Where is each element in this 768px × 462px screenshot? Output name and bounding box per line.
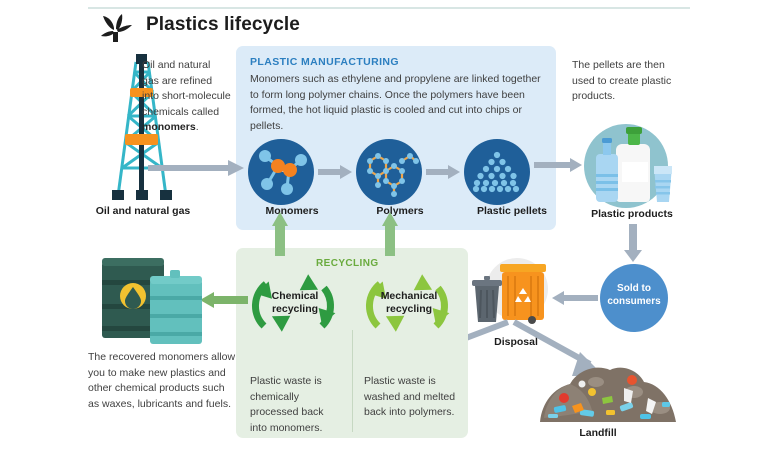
manufacturing-body-text: Monomers such as ethylene and propylene … <box>250 72 550 134</box>
oil-line-2: gas are refined <box>142 75 212 87</box>
label-oil-and-natural-gas: Oil and natural gas <box>78 205 208 217</box>
label-landfill: Landfill <box>548 427 648 439</box>
header-divider <box>88 7 690 9</box>
label-chemical-recycling: Chemical recycling <box>252 290 338 316</box>
arrow-pellets-to-products <box>534 158 582 172</box>
page-title: Plastics lifecycle <box>146 14 300 36</box>
recovered-monomers-note: The recovered monomers allow you to make… <box>88 350 238 412</box>
monomers-molecule-icon <box>248 139 314 205</box>
manufacturing-heading: PLASTIC MANUFACTURING <box>250 56 399 68</box>
label-plastic-pellets: Plastic pellets <box>464 205 560 217</box>
label-polymers: Polymers <box>356 205 444 217</box>
arrow-polymers-to-pellets <box>426 165 460 179</box>
oil-bold-monomers: monomers <box>142 121 196 133</box>
arrow-oil-to-monomers <box>148 160 244 176</box>
arrow-recycling-to-barrels <box>200 292 248 308</box>
polymer-chain-icon <box>356 139 422 205</box>
mechanical-recycling-text: Mechanical recycling <box>381 290 438 315</box>
oil-line-4: chemicals called <box>142 106 219 118</box>
chemical-barrels-illustration <box>96 256 206 348</box>
label-sold-to-consumers: Sold to consumers <box>600 282 668 308</box>
arrow-chemical-to-monomers <box>272 212 288 256</box>
chemical-recycling-text: Chemical recycling <box>272 290 319 315</box>
landfill-illustration <box>536 362 684 426</box>
oil-period: . <box>196 121 199 133</box>
label-monomers: Monomers <box>248 205 336 217</box>
label-mechanical-recycling: Mechanical recycling <box>366 290 452 316</box>
chemical-recycling-caption: Plastic waste is chemically processed ba… <box>250 374 342 436</box>
arrow-monomers-to-polymers <box>318 165 352 179</box>
recycling-column-divider <box>352 330 353 432</box>
pellets-note-text: The pellets are then used to create plas… <box>572 58 684 105</box>
oil-line-3: into short-molecule <box>142 90 231 102</box>
mechanical-recycling-caption: Plastic waste is washed and melted back … <box>364 374 456 421</box>
pellet-pile-icon <box>464 139 530 205</box>
plastic-products-icon <box>578 118 674 210</box>
arrow-mechanical-to-polymers <box>382 212 398 256</box>
label-plastic-products: Plastic products <box>576 208 688 220</box>
oil-line-1: Oil and natural <box>142 59 210 71</box>
oil-intro-text: Oil and natural gas are refined into sho… <box>142 58 242 136</box>
oil-gusher-icon <box>98 14 134 42</box>
arrow-products-to-sold <box>624 224 642 262</box>
infographic-canvas: Plastics lifecycle <box>0 0 768 462</box>
